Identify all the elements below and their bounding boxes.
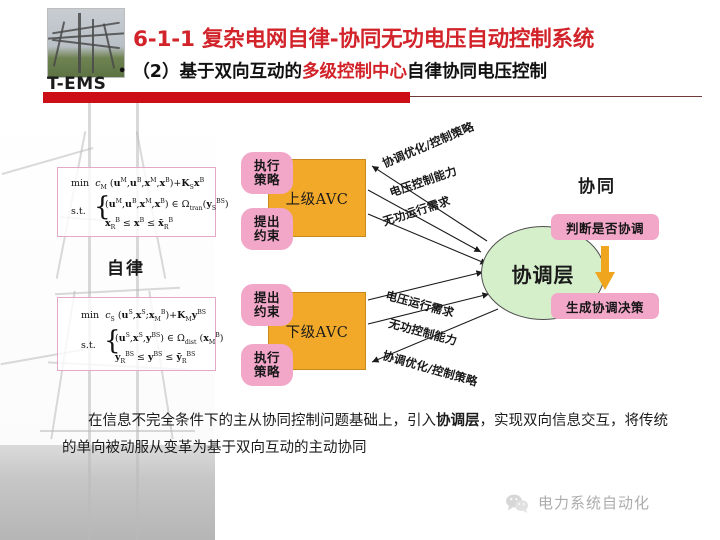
- pill-1-line1: 执行: [254, 159, 280, 173]
- body-paragraph: 在信息不完全条件下的主从协同控制问题基础上，引入协调层，实现双向信息交互，将传统…: [62, 408, 668, 462]
- pill-3-line1: 提出: [254, 291, 280, 305]
- pill-1-line2: 策略: [254, 173, 280, 187]
- pill-propose-constraint-upper[interactable]: 提出 约束: [241, 208, 293, 250]
- subtitle-highlight: 多级控制中心: [302, 62, 407, 82]
- avc-lower-label: 下级AVC: [286, 321, 349, 342]
- pill-2-line1: 提出: [254, 215, 280, 229]
- section-label-coordination: 协同: [578, 172, 616, 197]
- decision-bottom-label: 生成协调决策: [566, 297, 644, 316]
- page-title: 6-1-1 复杂电网自律-协同无功电压自动控制系统: [133, 22, 594, 53]
- formula-box-lower: min cS (uS,xS;xMB)+KMyBS s.t. { (uS,xS,y…: [57, 297, 216, 371]
- header-red-bar: [43, 92, 410, 103]
- coordination-layer-label: 协调层: [512, 259, 575, 288]
- down-arrow-icon: [595, 246, 615, 290]
- slide-header: T-EMS 6-1-1 复杂电网自律-协同无功电压自动控制系统 •（2）基于双向…: [0, 0, 720, 100]
- subtitle-prefix: （2）基于双向互动的: [132, 62, 302, 82]
- pill-execute-strategy-lower[interactable]: 执行 策略: [241, 344, 293, 386]
- control-architecture-diagram: min cM (uM,uB,xM,xB)+KSxB s.t. { (uM,uB,…: [0, 104, 720, 404]
- formula-upper-st-label: s.t.: [71, 206, 86, 217]
- formula-lower-st-label: s.t.: [81, 340, 96, 351]
- avc-upper-label: 上级AVC: [286, 188, 349, 209]
- pill-4-line1: 执行: [254, 351, 280, 365]
- formula-upper-constraint-2: xRB ≤ xB ≤ x̄RB: [105, 217, 173, 231]
- subtitle-suffix: 自律协同电压控制: [407, 62, 547, 82]
- decision-box-generate-decision[interactable]: 生成协调决策: [551, 293, 659, 319]
- subtitle-line: •（2）基于双向互动的多级控制中心自律协同电压控制: [118, 58, 547, 83]
- wechat-icon: [505, 493, 529, 513]
- decision-top-label: 判断是否协调: [566, 218, 644, 237]
- footer-label: 电力系统自动化: [538, 492, 650, 513]
- section-label-autonomy: 自律: [107, 254, 145, 279]
- paragraph-part-1: 在信息不完全条件下的主从协同控制问题基础上，引入: [88, 413, 436, 429]
- formula-upper-objective: min cM (uM,uB,xM,xB)+KSxB: [71, 177, 204, 191]
- bullet-icon: •: [118, 64, 126, 79]
- decision-box-check-coordination[interactable]: 判断是否协调: [551, 214, 659, 240]
- formula-box-upper: min cM (uM,uB,xM,xB)+KSxB s.t. { (uM,uB,…: [57, 167, 216, 237]
- pill-2-line2: 约束: [254, 229, 280, 243]
- paragraph-bold-term: 协调层: [436, 413, 480, 429]
- tems-logo-image: [47, 8, 125, 78]
- pill-execute-strategy-upper[interactable]: 执行 策略: [241, 152, 293, 194]
- pill-4-line2: 策略: [254, 365, 280, 379]
- header-thin-rule: [410, 96, 702, 97]
- formula-lower-constraint-1: (uS,xS,yBS) ∈ Ωdist (xMB): [115, 332, 224, 346]
- pill-3-line2: 约束: [254, 305, 280, 319]
- formula-upper-constraint-1: (uM,uB,xM,xB) ∈ Ωtran(ySBS): [105, 198, 229, 212]
- formula-lower-constraint-2: yRBS ≤ yBS ≤ ȳRBS: [115, 351, 195, 365]
- footer-watermark: 电力系统自动化: [505, 492, 650, 513]
- pill-propose-constraint-lower[interactable]: 提出 约束: [241, 284, 293, 326]
- formula-lower-objective: min cS (uS,xS;xMB)+KMyBS: [81, 309, 206, 323]
